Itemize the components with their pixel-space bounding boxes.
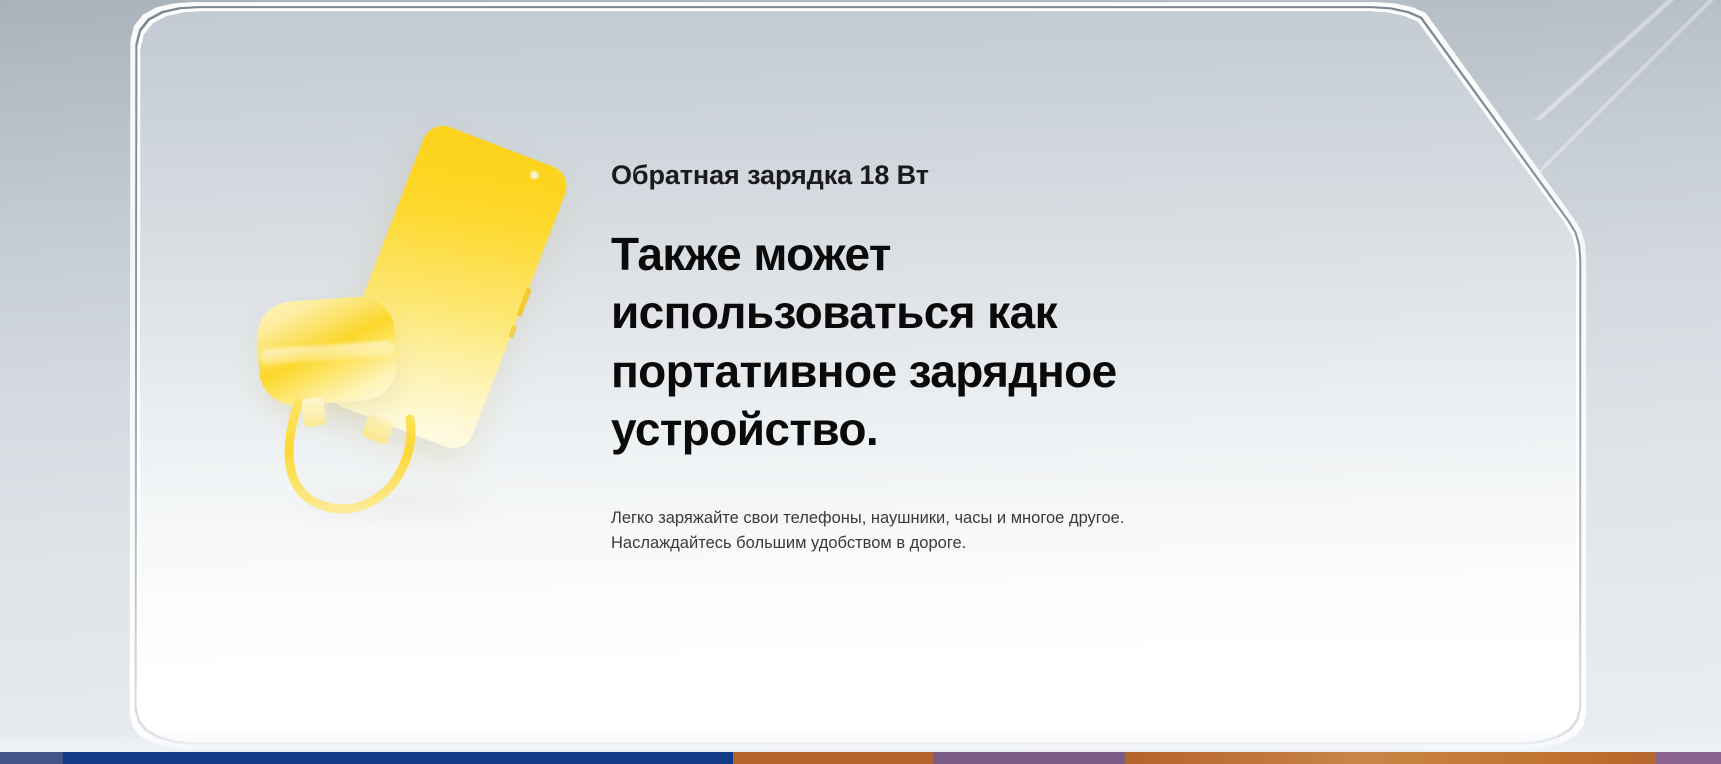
bottom-color-strip — [0, 752, 1721, 764]
phone-charging-port-icon — [361, 413, 395, 445]
product-shadow — [276, 481, 506, 527]
strip-segment-rust-orange — [733, 752, 933, 764]
strip-segment-slate-blue — [0, 752, 63, 764]
card-body-text: Легко заряжайте свои телефоны, наушники,… — [611, 506, 1191, 556]
strip-segment-orange-gradient — [1125, 752, 1655, 764]
earbuds-case-seam — [260, 340, 395, 364]
strip-segment-muted-purple — [933, 752, 1125, 764]
page-title: Также может использоваться как портативн… — [611, 225, 1191, 459]
feature-card: Обратная зарядка 18 Вт Также может испол… — [126, 2, 1588, 750]
phone-icon — [323, 120, 572, 455]
card-eyebrow: Обратная зарядка 18 Вт — [611, 161, 1231, 191]
phone-camera-icon — [529, 169, 541, 181]
product-image — [246, 131, 626, 551]
strip-segment-navy-blue — [63, 752, 733, 764]
strip-segment-purple-end — [1655, 752, 1721, 764]
earbuds-case-icon — [255, 294, 400, 407]
card-copy: Обратная зарядка 18 Вт Также может испол… — [611, 161, 1231, 556]
phone-volume-button-icon — [516, 287, 531, 317]
card-face: Обратная зарядка 18 Вт Также может испол… — [136, 11, 1578, 740]
phone-power-button-icon — [508, 325, 517, 339]
earbuds-case-plug-icon — [300, 397, 327, 428]
page-background: Обратная зарядка 18 Вт Также может испол… — [0, 0, 1721, 764]
